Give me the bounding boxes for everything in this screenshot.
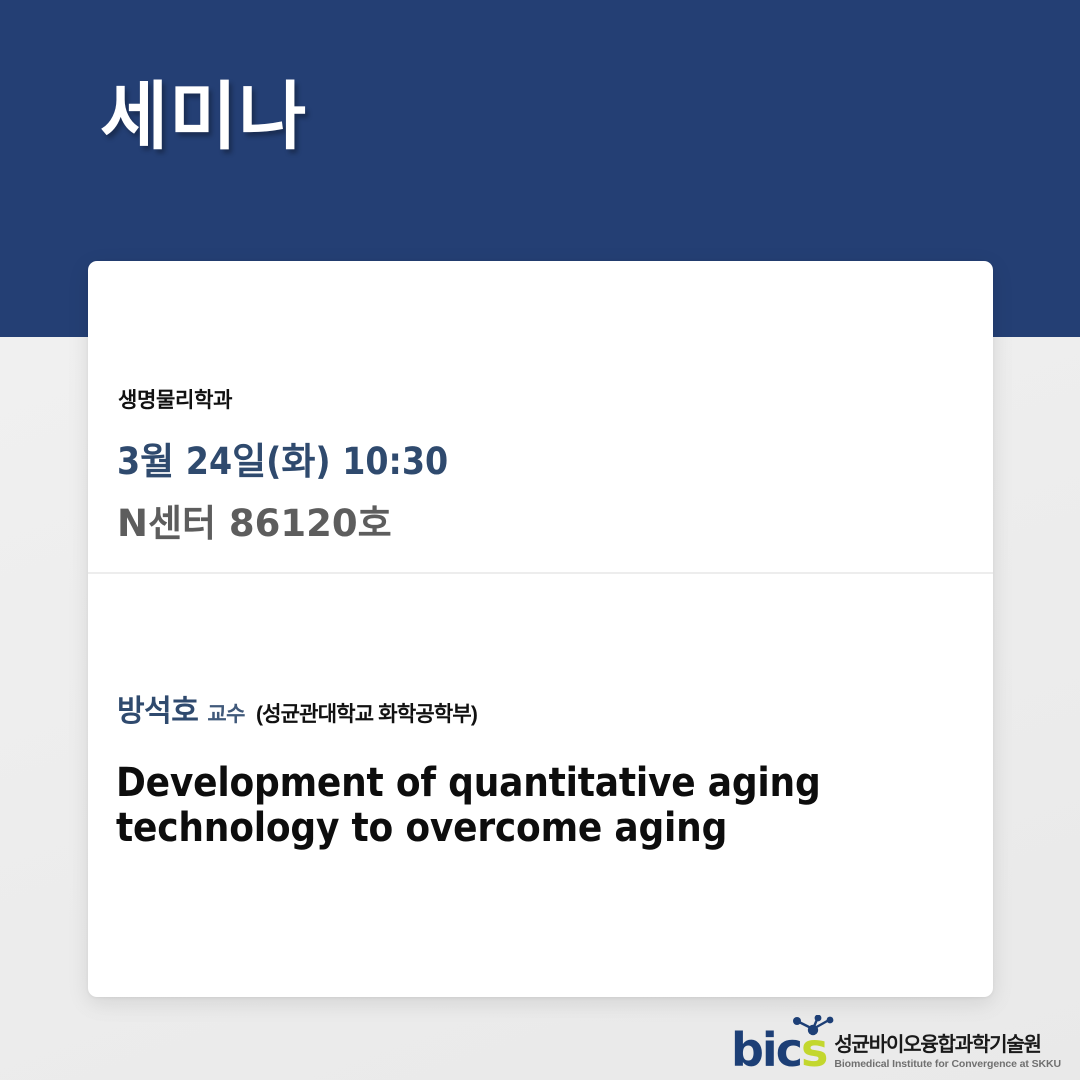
card-divider xyxy=(88,572,993,574)
seminar-location: N센터 86120호 xyxy=(117,493,392,547)
talk-title: Development of quantitative aging techno… xyxy=(116,761,946,851)
speaker-affiliation: (성균관대학교 화학공학부) xyxy=(256,698,477,728)
page-title: 세미나 xyxy=(100,78,307,156)
card-meta-section: 생명물리학과 3월 24일(화) 10:30 N센터 86120호 xyxy=(88,261,993,572)
logo-wordmark: bics xyxy=(731,1027,826,1073)
speaker-line: 방석호 교수 (성균관대학교 화학공학부) xyxy=(117,686,477,730)
logo-wordmark-accent: s xyxy=(801,1023,826,1077)
institute-name-english: Biomedical Institute for Convergence at … xyxy=(834,1058,1061,1071)
seminar-info-card: 생명물리학과 3월 24일(화) 10:30 N센터 86120호 방석호 교수… xyxy=(88,261,993,997)
seminar-datetime: 3월 24일(화) 10:30 xyxy=(117,431,448,485)
department-label: 생명물리학과 xyxy=(118,384,232,414)
speaker-name: 방석호 xyxy=(117,686,198,730)
logo-wordmark-primary: bic xyxy=(731,1023,801,1077)
logo-institute-text: 성균바이오융합과학기술원 Biomedical Institute for Co… xyxy=(834,1034,1061,1073)
logo-mark: bics xyxy=(731,1015,822,1073)
institute-name-korean: 성균바이오융합과학기술원 xyxy=(834,1034,1061,1056)
bics-logo: bics 성균바이오융합과학기술원 Biomedical Institute f… xyxy=(731,1013,1061,1073)
speaker-rank: 교수 xyxy=(207,698,245,728)
